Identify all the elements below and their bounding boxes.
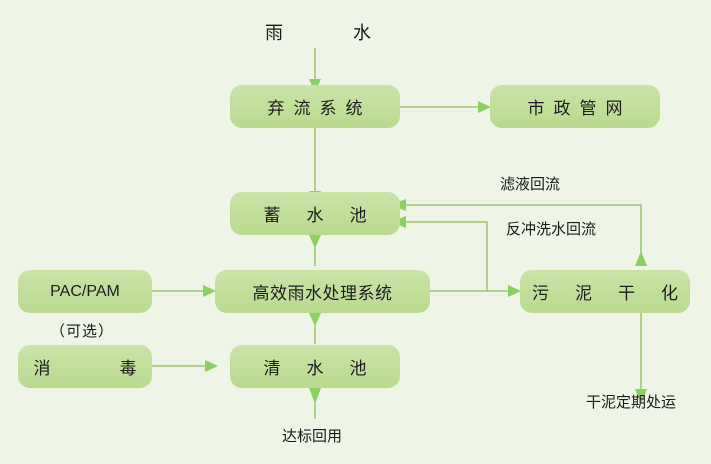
- node-storage-tank[interactable]: 蓄水池: [230, 192, 400, 235]
- label-rain-inflow: 雨 水: [265, 19, 397, 45]
- arrowhead-clearwater-to-reuse: [309, 388, 321, 404]
- flowchart-canvas: 雨 水 弃流系统 市政管网 蓄水池 PAC/PAM 高效雨水处理系统 污泥干化 …: [0, 0, 711, 464]
- label-filtrate-return: 滤液回流: [500, 173, 560, 194]
- label-backwash-return: 反冲洗水回流: [506, 218, 596, 239]
- label-sludge-disposal: 干泥定期处运: [586, 391, 676, 412]
- node-treatment-system[interactable]: 高效雨水处理系统: [215, 270, 430, 313]
- node-sludge-drying[interactable]: 污泥干化: [520, 270, 690, 313]
- arrowhead-storage-to-treatment: [309, 235, 321, 248]
- label-compliant-reuse: 达标回用: [282, 425, 342, 446]
- node-municipal-pipe-network[interactable]: 市政管网: [490, 85, 660, 128]
- label-pac-pam-optional: （可选）: [50, 320, 114, 341]
- node-pac-pam[interactable]: PAC/PAM: [18, 270, 152, 313]
- node-disinfection[interactable]: 消 毒: [18, 345, 152, 388]
- arrowhead-filtrate-return: [635, 251, 647, 266]
- arrowhead-disinfect-to-clearwater: [205, 360, 218, 372]
- node-diversion-system[interactable]: 弃流系统: [230, 85, 400, 128]
- node-clear-water-tank[interactable]: 清水池: [230, 345, 400, 388]
- arrowhead-treatment-to-clearwater: [309, 313, 321, 326]
